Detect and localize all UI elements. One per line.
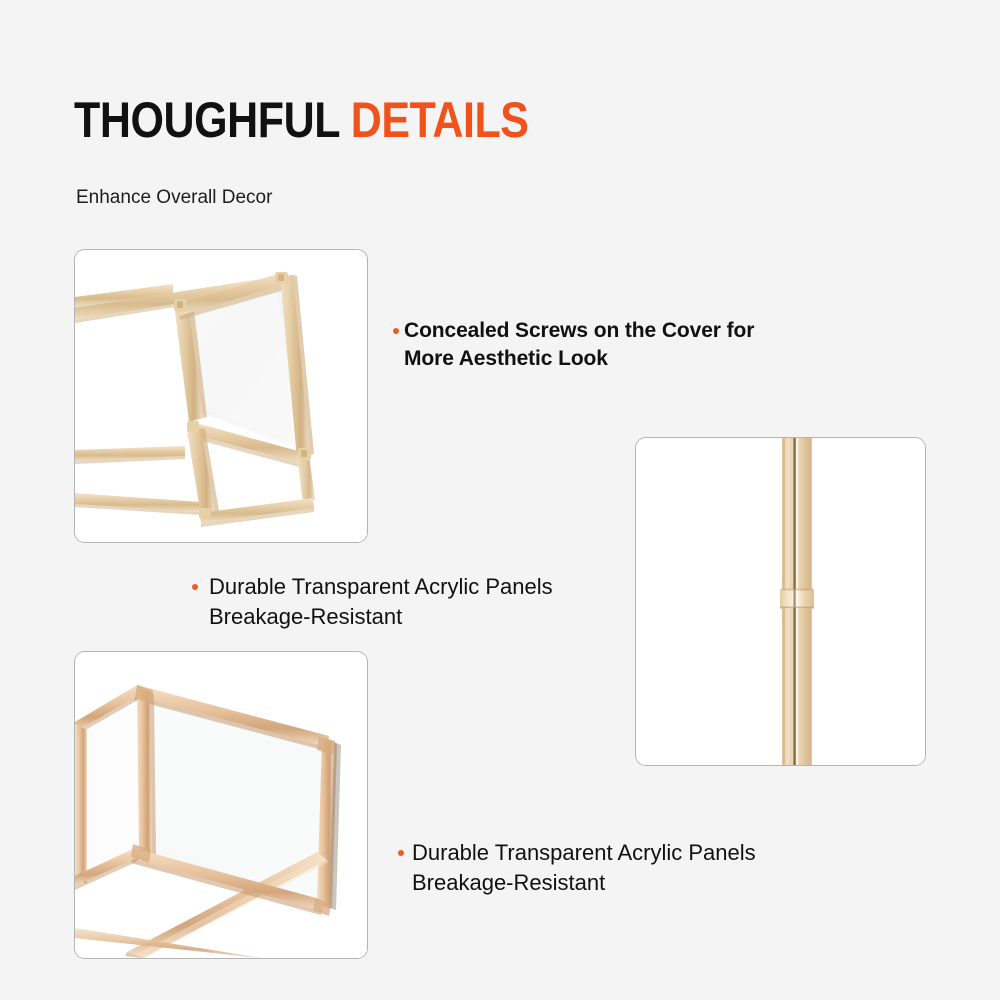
page-title-accent: DETAILS <box>351 92 529 148</box>
feature-text: Durable Transparent Acrylic Panels Break… <box>209 572 553 632</box>
bullet-dot-icon <box>398 850 404 856</box>
page-title: THOUGHFUL DETAILS <box>74 92 529 148</box>
page-subtitle: Enhance Overall Decor <box>76 186 272 210</box>
feature-bullet-acrylic-panels-lower: Durable Transparent Acrylic Panels Break… <box>398 838 756 898</box>
feature-bullet-acrylic-panels-upper: Durable Transparent Acrylic Panels Break… <box>192 572 553 632</box>
photo-card-angled-acrylic-panel-frame <box>74 249 368 543</box>
page-title-main: THOUGHFUL <box>74 92 339 148</box>
feature-text: Durable Transparent Acrylic Panels Break… <box>412 838 756 898</box>
angled-acrylic-panel-frame-image <box>75 250 367 542</box>
bullet-dot-icon <box>393 328 399 334</box>
photo-card-gold-post-connector-joint <box>635 437 926 766</box>
feature-text: Concealed Screws on the Cover for More A… <box>404 317 754 373</box>
infographic-page: THOUGHFUL DETAILS Enhance Overall Decor <box>0 0 1000 1000</box>
cube-frame-diagonal-brace-image <box>75 652 367 958</box>
feature-bullet-concealed-screws: Concealed Screws on the Cover for More A… <box>393 317 754 373</box>
bullet-dot-icon <box>192 584 198 590</box>
photo-card-cube-frame-diagonal-brace <box>74 651 368 959</box>
gold-post-connector-joint-image <box>636 438 925 765</box>
